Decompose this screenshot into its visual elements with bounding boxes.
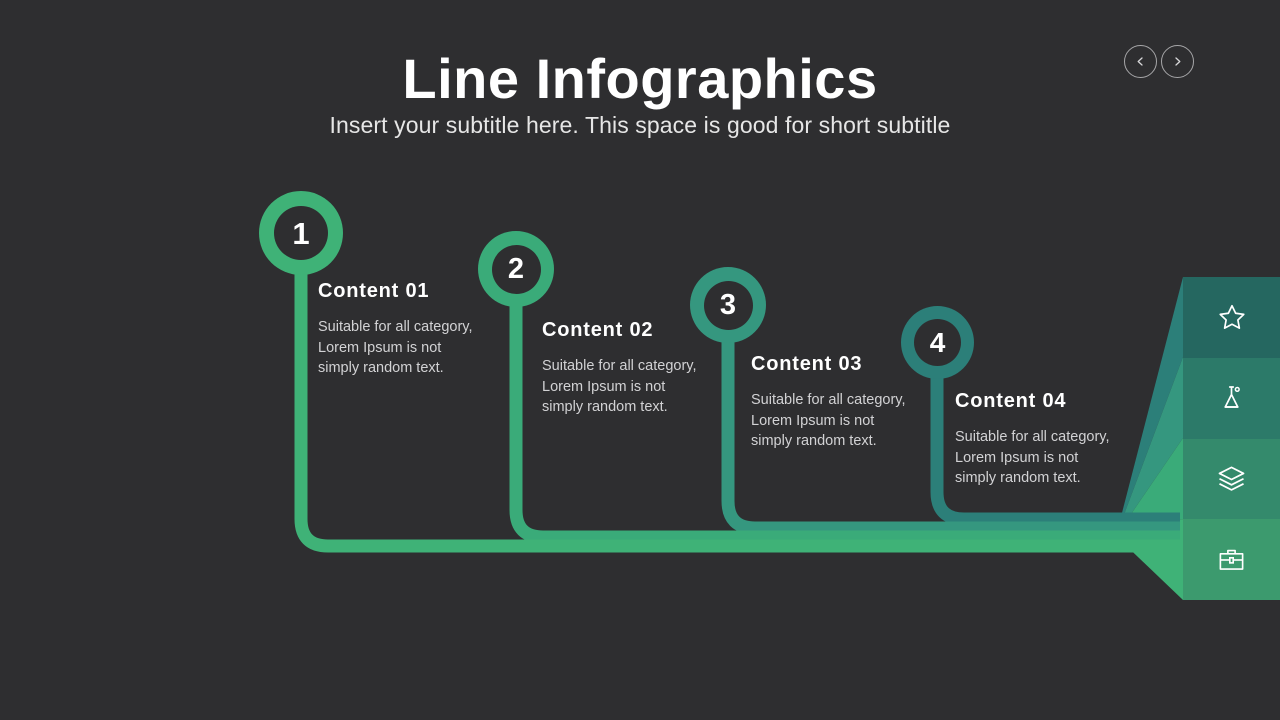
briefcase-icon: [1217, 545, 1246, 574]
content-title-1: Content 01: [318, 280, 518, 303]
content-body-2: Suitable for all category, Lorem Ipsum i…: [542, 356, 742, 418]
content-title-2: Content 02: [542, 319, 742, 342]
content-body-4: Suitable for all category, Lorem Ipsum i…: [955, 427, 1155, 489]
content-block-4: Content 04 Suitable for all category, Lo…: [955, 390, 1155, 489]
icon-cell-flask[interactable]: [1183, 358, 1280, 439]
content-title-3: Content 03: [751, 353, 951, 376]
content-block-1: Content 01 Suitable for all category, Lo…: [318, 280, 518, 379]
icon-cell-star[interactable]: [1183, 277, 1280, 358]
flask-icon: [1217, 383, 1247, 413]
content-block-3: Content 03 Suitable for all category, Lo…: [751, 353, 951, 452]
icon-cell-layers[interactable]: [1183, 439, 1280, 520]
star-icon: [1217, 302, 1247, 332]
step-number-1: 1: [274, 206, 328, 260]
content-title-4: Content 04: [955, 390, 1155, 413]
content-block-2: Content 02 Suitable for all category, Lo…: [542, 319, 742, 418]
icon-panel: [1183, 277, 1280, 600]
icon-cell-briefcase[interactable]: [1183, 519, 1280, 600]
content-body-1: Suitable for all category, Lorem Ipsum i…: [318, 317, 518, 379]
content-body-3: Suitable for all category, Lorem Ipsum i…: [751, 390, 951, 452]
layers-icon: [1216, 463, 1247, 494]
slide-canvas: Line Infographics Insert your subtitle h…: [0, 0, 1280, 720]
step-marker-1[interactable]: 1: [259, 191, 343, 275]
